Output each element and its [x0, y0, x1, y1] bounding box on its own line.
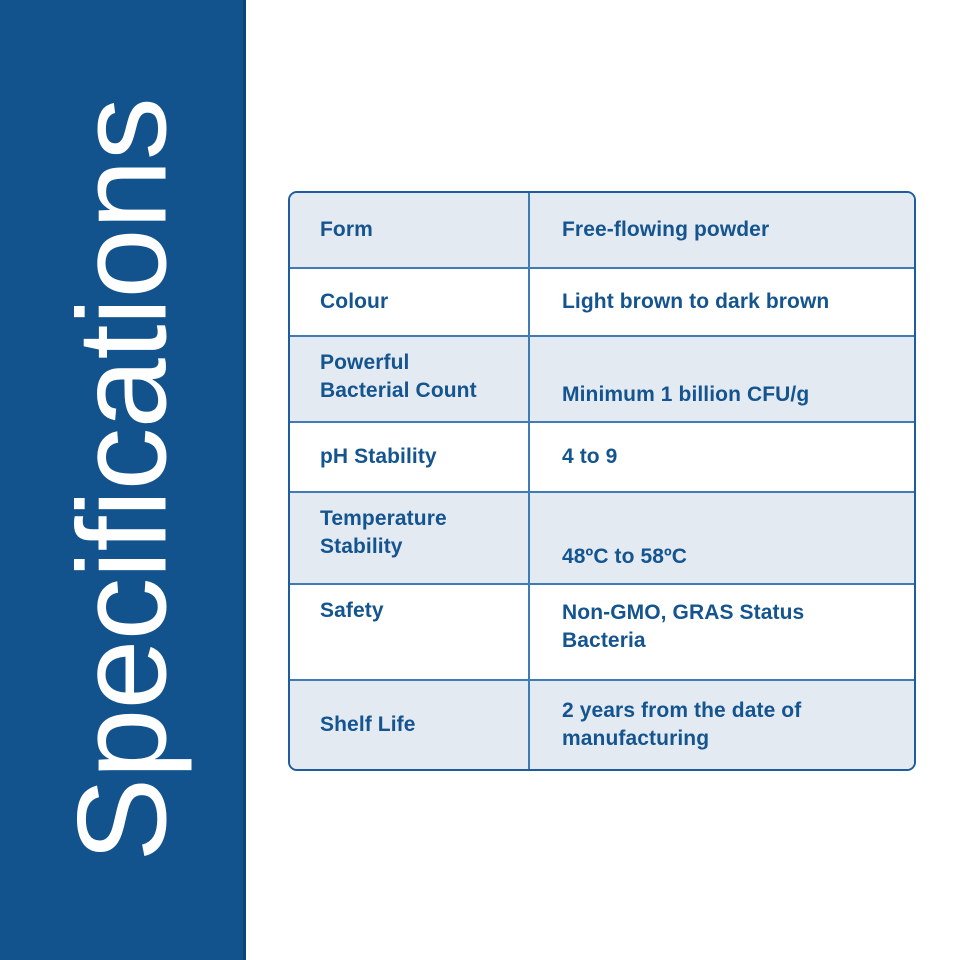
specifications-table: Form Free-flowing powder Colour Light br…	[288, 191, 916, 771]
row-label: pH Stability	[290, 423, 530, 491]
row-label-line1: Powerful	[320, 351, 409, 374]
table-row: Powerful Bacterial Count Minimum 1 billi…	[290, 337, 914, 423]
row-value: Free-flowing powder	[530, 193, 914, 267]
row-label: Form	[290, 193, 530, 267]
table-row: Shelf Life 2 years from the date of manu…	[290, 681, 914, 769]
row-value: Light brown to dark brown	[530, 269, 914, 335]
table-row: pH Stability 4 to 9	[290, 423, 914, 493]
page-title: Specifications	[60, 98, 186, 861]
table-row: Safety Non-GMO, GRAS Status Bacteria	[290, 585, 914, 681]
row-value-line2: manufacturing	[562, 727, 709, 750]
row-value: 48ºC to 58ºC	[530, 493, 914, 583]
row-label: Powerful Bacterial Count	[290, 337, 530, 421]
row-label: Colour	[290, 269, 530, 335]
row-value: Minimum 1 billion CFU/g	[530, 337, 914, 421]
row-value-line2: Bacteria	[562, 629, 646, 652]
specifications-page: Specifications Form Free-flowing powder …	[0, 0, 960, 960]
row-value: 4 to 9	[530, 423, 914, 491]
sidebar-edge-divider	[243, 0, 246, 960]
row-label-line1: Temperature	[320, 507, 447, 530]
row-value: 2 years from the date of manufacturing	[530, 681, 914, 769]
row-label: Temperature Stability	[290, 493, 530, 583]
row-label-line2: Bacterial Count	[320, 379, 477, 402]
sidebar: Specifications	[0, 0, 246, 960]
table-row: Colour Light brown to dark brown	[290, 269, 914, 337]
row-label: Safety	[290, 585, 530, 679]
row-label: Shelf Life	[290, 681, 530, 769]
table-row: Temperature Stability 48ºC to 58ºC	[290, 493, 914, 585]
row-value: Non-GMO, GRAS Status Bacteria	[530, 585, 914, 679]
row-label-line2: Stability	[320, 535, 403, 558]
sidebar-title-container: Specifications	[0, 0, 246, 960]
table-row: Form Free-flowing powder	[290, 193, 914, 269]
row-value-line1: Non-GMO, GRAS Status	[562, 601, 804, 624]
row-value-line1: 2 years from the date of	[562, 699, 801, 722]
